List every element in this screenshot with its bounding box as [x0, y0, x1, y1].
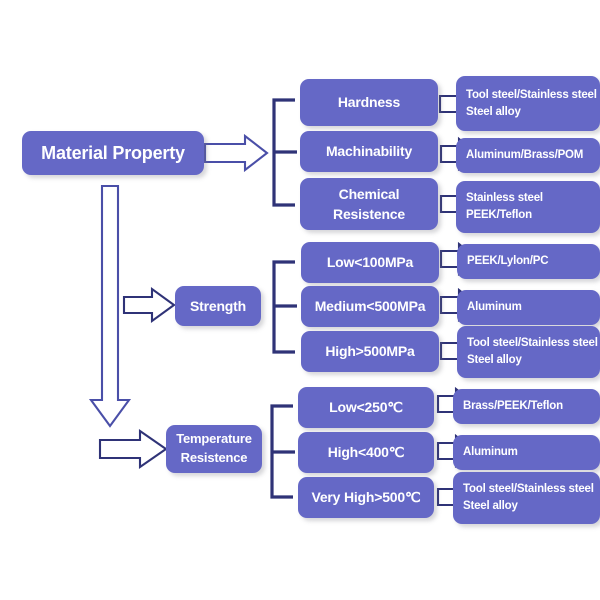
node-label: High>500MPa [325, 341, 414, 361]
node-hardness[interactable]: Hardness [300, 79, 438, 126]
node-strength-low[interactable]: Low<100MPa [301, 242, 439, 283]
node-label: Very High>500℃ [311, 487, 420, 507]
bracket-connector-icon-temperature [272, 406, 295, 497]
node-label: Hardness [338, 92, 400, 112]
node-category-strength[interactable]: Strength [175, 286, 261, 326]
result-line-2: Steel alloy [463, 498, 518, 515]
node-results-strength-high[interactable]: Tool steel/Stainless steel Steel alloy [457, 326, 600, 378]
result-line-1: Aluminum [463, 444, 518, 461]
bracket-connector-icon-strength [274, 262, 297, 352]
node-temperature-very-high[interactable]: Very High>500℃ [298, 477, 434, 518]
result-line-1: Stainless steel [466, 190, 543, 207]
node-strength-medium[interactable]: Medium<500MPa [301, 286, 439, 327]
result-line-2: PEEK/Teflon [466, 207, 532, 224]
node-chemical-resistence[interactable]: Chemical Resistence [300, 178, 438, 230]
node-results-temperature-high[interactable]: Aluminum [453, 435, 600, 470]
node-label: Machinability [326, 141, 412, 161]
arrow-right-icon-trunk-to-temperature [100, 431, 166, 467]
result-line-1: Aluminum/Brass/POM [466, 147, 583, 164]
node-machinability[interactable]: Machinability [300, 131, 438, 172]
node-label-line-2: Resistence [333, 204, 405, 224]
node-material-property[interactable]: Material Property [22, 131, 204, 175]
node-results-temperature-low[interactable]: Brass/PEEK/Teflon [453, 389, 600, 424]
diagram-canvas: Material Property Strength Temperature R… [0, 0, 600, 600]
node-temperature-low[interactable]: Low<250℃ [298, 387, 434, 428]
arrow-right-icon-root-to-properties [205, 136, 267, 170]
result-line-1: Brass/PEEK/Teflon [463, 398, 563, 415]
node-temperature-high[interactable]: High<400℃ [298, 432, 434, 473]
node-results-hardness[interactable]: Tool steel/Stainless steel Steel alloy [456, 76, 600, 131]
arrow-down-icon-root-trunk [91, 186, 129, 426]
node-label: Low<250℃ [329, 397, 403, 417]
node-results-strength-medium[interactable]: Aluminum [457, 290, 600, 325]
node-results-machinability[interactable]: Aluminum/Brass/POM [456, 138, 600, 173]
result-line-1: Tool steel/Stainless steel [467, 335, 598, 352]
node-results-temperature-very-high[interactable]: Tool steel/Stainless steel Steel alloy [453, 472, 600, 524]
node-label-line-1: Chemical [339, 184, 400, 204]
node-label: Low<100MPa [327, 252, 413, 272]
node-label-line-2: Resistence [181, 449, 248, 468]
result-line-2: Steel alloy [467, 352, 522, 369]
node-label: Strength [190, 296, 246, 316]
result-line-2: Steel alloy [466, 104, 521, 121]
node-results-chemical-resistence[interactable]: Stainless steel PEEK/Teflon [456, 181, 600, 233]
result-line-1: PEEK/Lylon/PC [467, 253, 548, 270]
node-label: Material Property [41, 140, 185, 166]
result-line-1: Tool steel/Stainless steel [466, 87, 597, 104]
node-category-temperature-resistence[interactable]: Temperature Resistence [166, 425, 262, 473]
node-label-line-1: Temperature [176, 430, 252, 449]
node-strength-high[interactable]: High>500MPa [301, 331, 439, 372]
bracket-connector-icon-properties [274, 100, 297, 205]
result-line-1: Tool steel/Stainless steel [463, 481, 594, 498]
arrow-right-icon-trunk-to-strength [124, 289, 174, 321]
node-results-strength-low[interactable]: PEEK/Lylon/PC [457, 244, 600, 279]
result-line-1: Aluminum [467, 299, 522, 316]
node-label: Medium<500MPa [315, 296, 426, 316]
node-label: High<400℃ [328, 442, 405, 462]
